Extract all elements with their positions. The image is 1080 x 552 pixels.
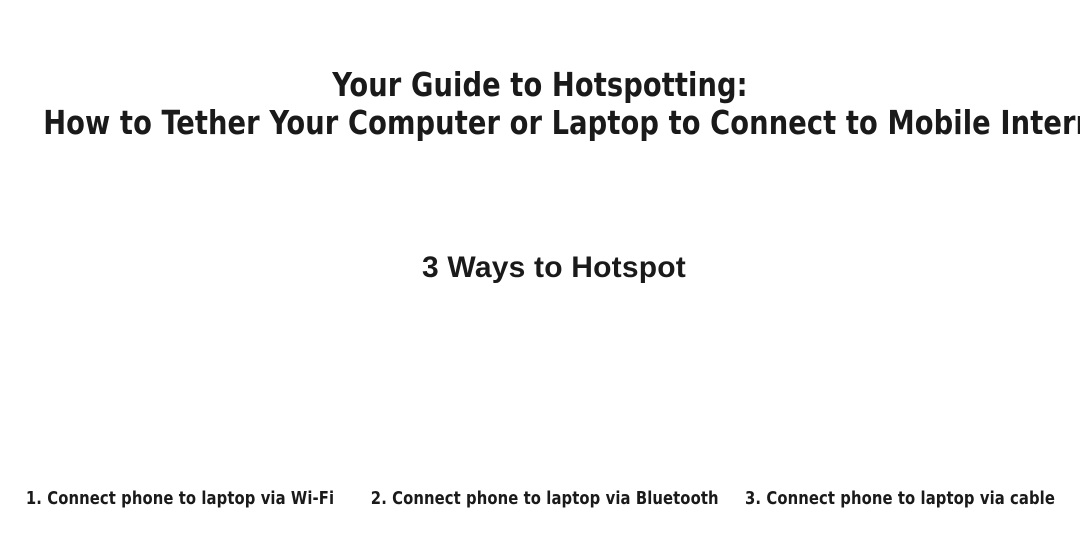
page-title-line-2: How to Tether Your Computer or Laptop to… (43, 104, 1037, 142)
method-caption-2: 2. Connect phone to laptop via Bluetooth (371, 488, 709, 510)
page-title: Your Guide to Hotspotting: How to Tether… (43, 66, 1037, 142)
page-title-line-1: Your Guide to Hotspotting: (43, 66, 1037, 104)
method-caption-3: 3. Connect phone to laptop via cable (731, 488, 1069, 510)
illustration-method-2 (360, 285, 720, 475)
article-page: Your Guide to Hotspotting: How to Tether… (0, 0, 1080, 552)
illustration-method-1 (0, 285, 360, 475)
section-heading: 3 Ways to Hotspot (0, 250, 1080, 286)
illustration-method-3 (720, 285, 1080, 475)
method-caption-1: 1. Connect phone to laptop via Wi-Fi (11, 488, 349, 510)
caption-row: 1. Connect phone to laptop via Wi-Fi 2. … (0, 488, 1080, 510)
illustration-row (0, 285, 1080, 475)
